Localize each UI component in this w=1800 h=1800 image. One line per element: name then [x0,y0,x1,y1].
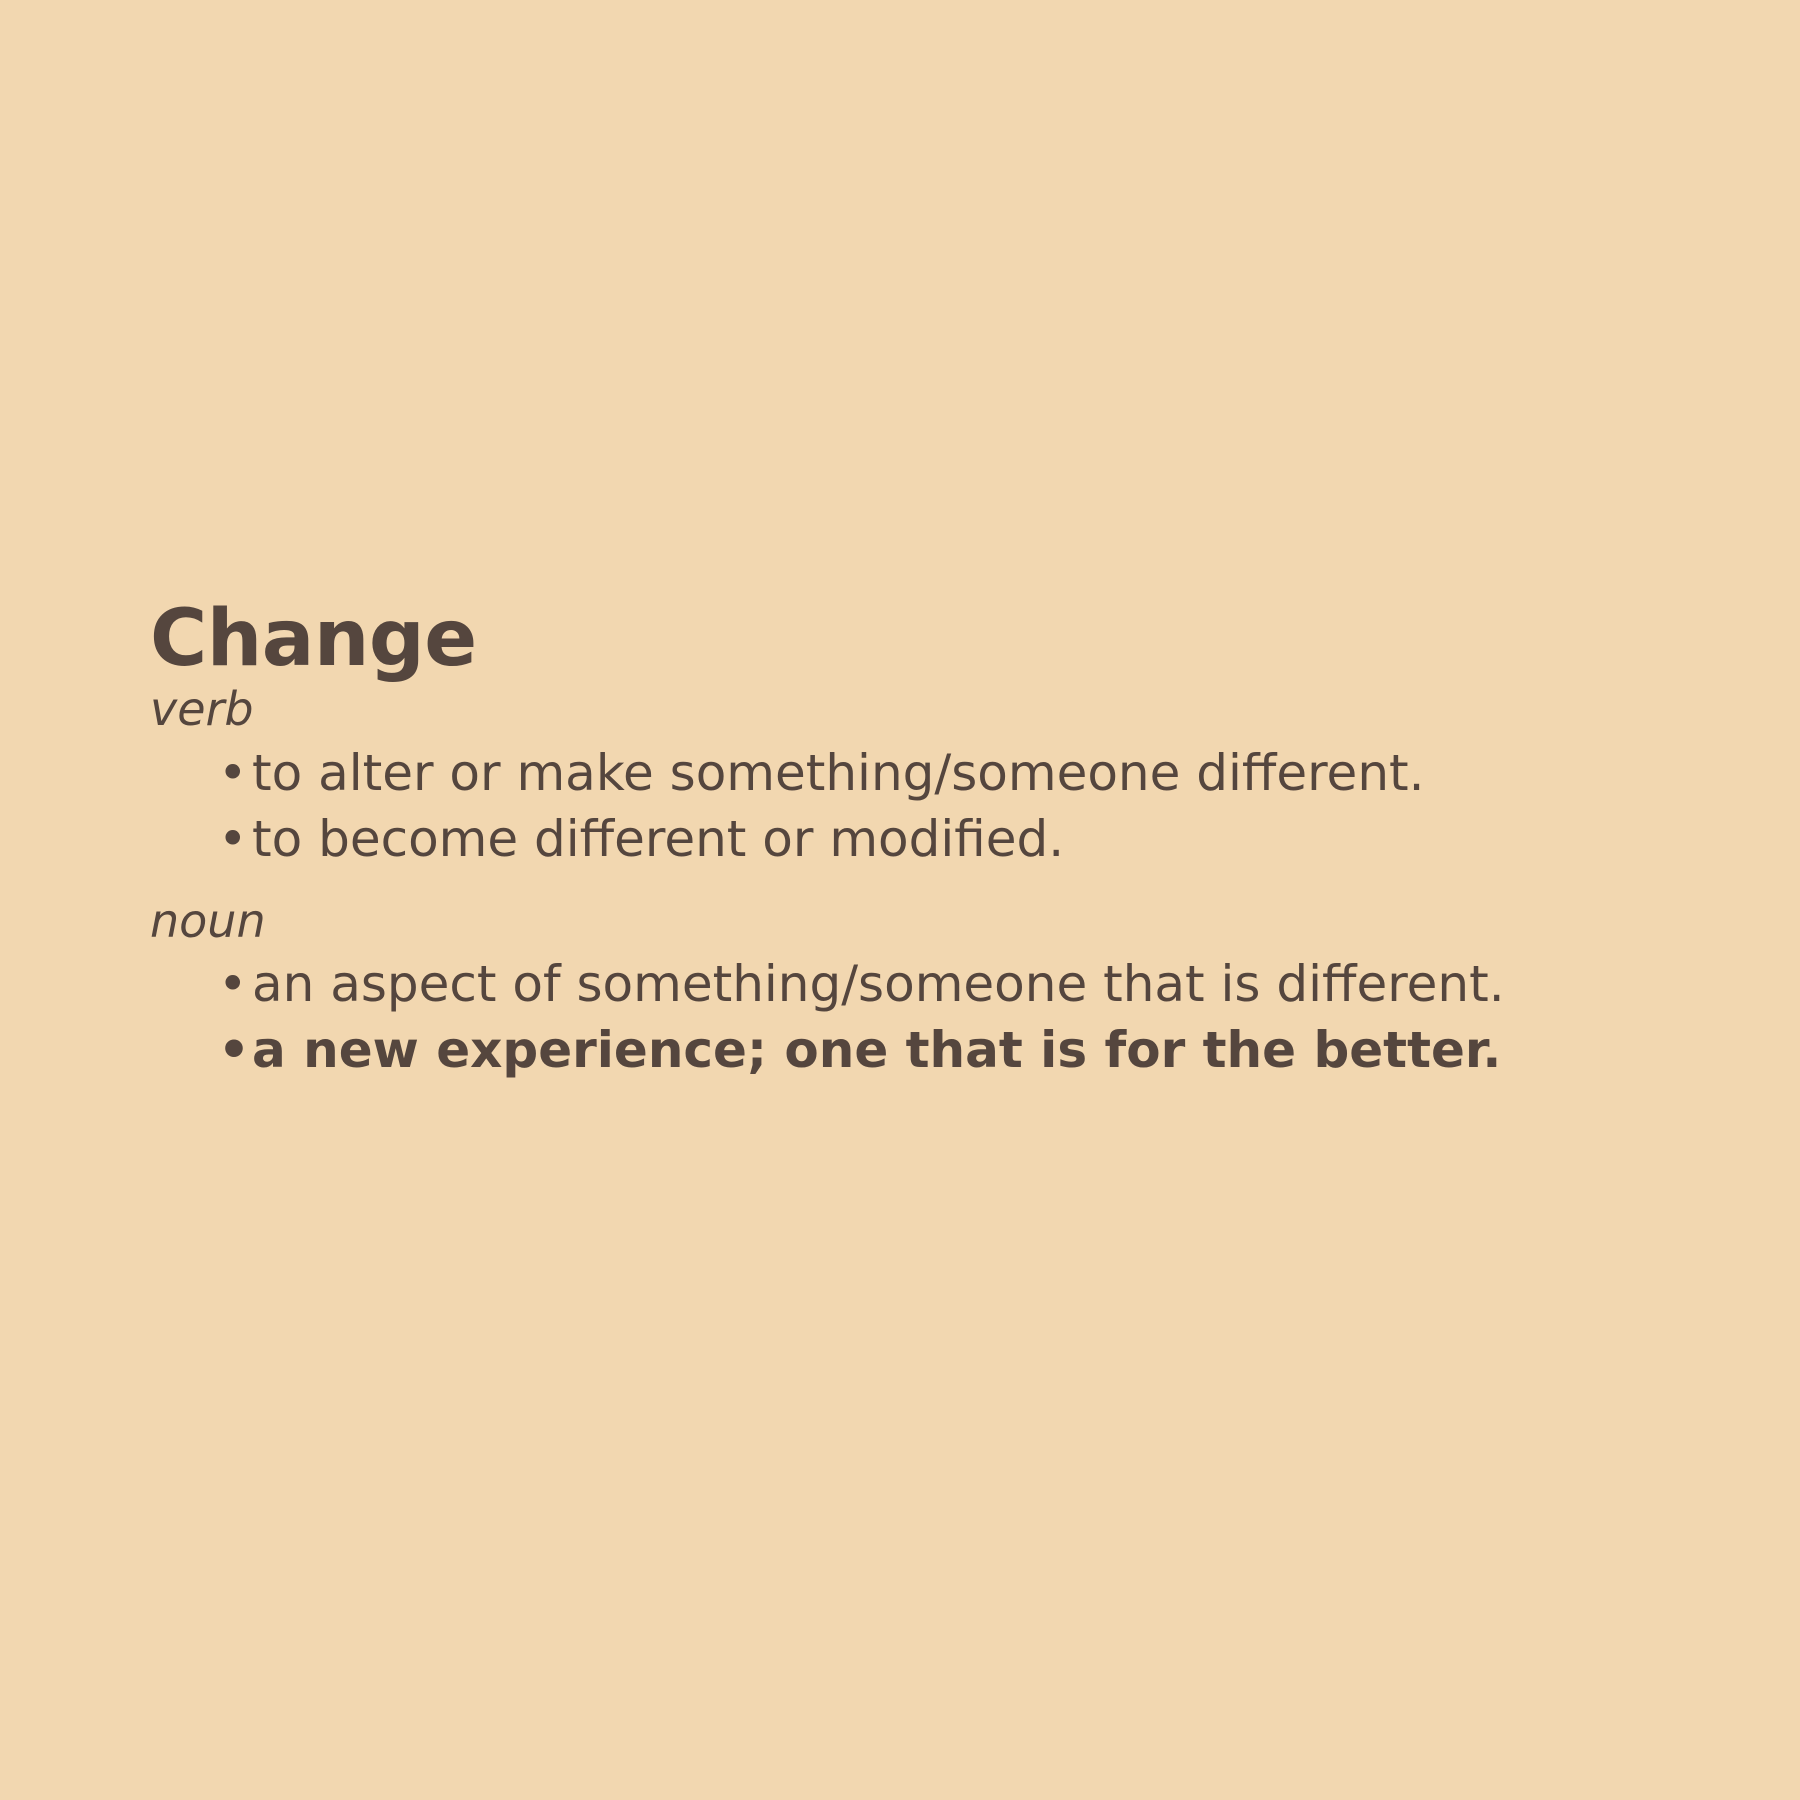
list-item: •a new experience; one that is for the b… [218,1017,1710,1083]
sense-text: to alter or make something/someone diffe… [252,744,1425,802]
sense-text: an aspect of something/someone that is d… [252,955,1505,1013]
bullet-icon: • [218,806,252,872]
definition-card: Change verb •to alter or make something/… [0,0,1800,1800]
list-item: •to alter or make something/someone diff… [218,740,1710,806]
sense-list-noun: •an aspect of something/someone that is … [150,951,1710,1083]
sense-text: to become different or modified. [252,810,1064,868]
bullet-icon: • [218,740,252,806]
sense-list-verb: •to alter or make something/someone diff… [150,740,1710,872]
part-of-speech-verb: verb [150,684,1710,736]
sense-text: a new experience; one that is for the be… [252,1021,1501,1079]
page-title: Change [150,600,1710,678]
part-of-speech-noun: noun [150,896,1710,948]
bullet-icon: • [218,1017,252,1083]
list-item: •an aspect of something/someone that is … [218,951,1710,1017]
list-item: •to become different or modified. [218,806,1710,872]
dictionary-entry: Change verb •to alter or make something/… [150,600,1710,1083]
bullet-icon: • [218,951,252,1017]
